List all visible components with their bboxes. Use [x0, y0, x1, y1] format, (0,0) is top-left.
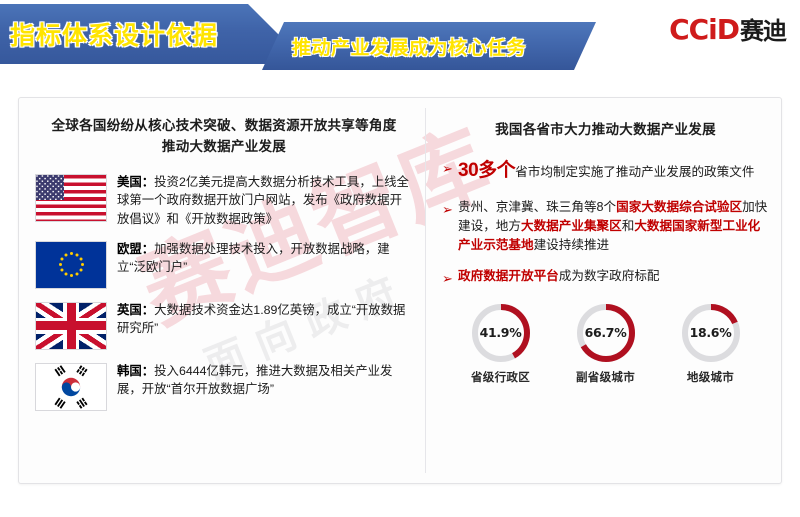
donut-gauge: 41.9%省级行政区 — [453, 301, 549, 385]
donut-gauge: 66.7%副省级城市 — [558, 301, 654, 385]
country-name: 美国： — [117, 175, 154, 189]
country-name: 韩国： — [117, 364, 154, 378]
list-item: 欧盟：加强数据处理技术投入，开放数据战略，建立“泛欧门户” — [35, 239, 413, 289]
arrow-bullet-icon: ➢ — [442, 198, 458, 220]
country-detail: 投资2亿美元提高大数据分析技术工具，上线全球第一个政府数据开放门户网站，发布《政… — [117, 175, 409, 226]
list-item: 美国：投资2亿美元提高大数据分析技术工具，上线全球第一个政府数据开放门户网站，发… — [35, 172, 413, 228]
left-pane-title: 全球各国纷纷从核心技术突破、数据资源开放共享等角度推动大数据产业发展 — [35, 110, 413, 158]
right-pane-title: 我国各省市大力推动大数据产业发展 — [442, 110, 769, 141]
uk-flag-icon — [35, 302, 107, 350]
donut-ring: 18.6% — [679, 301, 743, 365]
list-item: ➢ 贵州、京津冀、珠三角等8个国家大数据综合试验区加快建设，地方大数据产业集聚区… — [442, 198, 769, 255]
right-pane: 我国各省市大力推动大数据产业发展 ➢ 30多个省市均制定实施了推动产业发展的政策… — [426, 98, 781, 483]
donut-category-label: 省级行政区 — [453, 369, 549, 385]
us-flag-icon — [35, 174, 107, 222]
list-item: ➢ 30多个省市均制定实施了推动产业发展的政策文件 — [442, 157, 769, 186]
page-header: 指标体系设计依据 推动产业发展成为核心任务 CCiD 赛迪 — [0, 0, 800, 78]
donut-chart-group: 41.9%省级行政区66.7%副省级城市18.6%地级城市 — [442, 301, 769, 385]
banner-primary-label: 指标体系设计依据 — [0, 16, 218, 52]
ccid-logo: CCiD 赛迪 — [669, 16, 786, 44]
bullet-list: ➢ 30多个省市均制定实施了推动产业发展的政策文件 ➢ 贵州、京津冀、珠三角等8… — [442, 157, 769, 289]
donut-gauge: 18.6%地级城市 — [663, 301, 759, 385]
donut-value-label: 66.7% — [574, 301, 638, 365]
bullet-text: 政府数据开放平台成为数字政府标配 — [458, 267, 660, 286]
country-name: 欧盟： — [117, 242, 154, 256]
country-name: 英国： — [117, 303, 154, 317]
donut-ring: 41.9% — [469, 301, 533, 365]
donut-ring: 66.7% — [574, 301, 638, 365]
banner-secondary-label: 推动产业发展成为核心任务 — [262, 33, 526, 60]
bullet-highlight-1: 国家大数据综合试验区 — [616, 200, 742, 214]
bullet-highlight-platform: 政府数据开放平台 — [458, 269, 559, 283]
left-pane: 全球各国纷纷从核心技术突破、数据资源开放共享等角度推动大数据产业发展 美国：投资… — [19, 98, 425, 483]
list-item: 韩国：投入6444亿韩元，推进大数据及相关产业发展，开放“首尔开放数据广场” — [35, 361, 413, 411]
list-item: ➢ 政府数据开放平台成为数字政府标配 — [442, 267, 769, 289]
donut-category-label: 地级城市 — [663, 369, 759, 385]
arrow-bullet-icon: ➢ — [442, 157, 458, 179]
country-detail: 投入6444亿韩元，推进大数据及相关产业发展，开放“首尔开放数据广场” — [117, 364, 392, 396]
bullet-rest: 省市均制定实施了推动产业发展的政策文件 — [515, 165, 754, 179]
panes-container: 全球各国纷纷从核心技术突破、数据资源开放共享等角度推动大数据产业发展 美国：投资… — [19, 98, 781, 483]
donut-value-label: 41.9% — [469, 301, 533, 365]
country-description: 英国：大数据技术资金达1.89亿英镑，成立“开放数据研究所” — [117, 300, 413, 338]
eu-flag-icon — [35, 241, 107, 289]
arrow-bullet-icon: ➢ — [442, 267, 458, 289]
kr-flag-icon — [35, 363, 107, 411]
country-list: 美国：投资2亿美元提高大数据分析技术工具，上线全球第一个政府数据开放门户网站，发… — [35, 172, 413, 411]
donut-category-label: 副省级城市 — [558, 369, 654, 385]
banner-primary: 指标体系设计依据 — [0, 4, 300, 64]
bullet-highlight-2: 大数据产业集聚区 — [521, 219, 622, 233]
bullet-part4: 建设持续推进 — [534, 238, 610, 252]
content-card: 赛迪智库 面向政府 全球各国纷纷从核心技术突破、数据资源开放共享等角度推动大数据… — [18, 97, 782, 484]
bullet-part3: 和 — [622, 219, 635, 233]
country-description: 美国：投资2亿美元提高大数据分析技术工具，上线全球第一个政府数据开放门户网站，发… — [117, 172, 413, 228]
country-description: 韩国：投入6444亿韩元，推进大数据及相关产业发展，开放“首尔开放数据广场” — [117, 361, 413, 399]
bullet-rest: 成为数字政府标配 — [559, 269, 660, 283]
kr-flag-svg — [36, 364, 106, 410]
bullet-text: 贵州、京津冀、珠三角等8个国家大数据综合试验区加快建设，地方大数据产业集聚区和大… — [458, 198, 769, 255]
bullet-text: 30多个省市均制定实施了推动产业发展的政策文件 — [458, 157, 754, 186]
list-item: 英国：大数据技术资金达1.89亿英镑，成立“开放数据研究所” — [35, 300, 413, 350]
bullet-part1: 贵州、京津冀、珠三角等8个 — [458, 200, 616, 214]
country-detail: 加强数据处理技术投入，开放数据战略，建立“泛欧门户” — [117, 242, 390, 274]
country-description: 欧盟：加强数据处理技术投入，开放数据战略，建立“泛欧门户” — [117, 239, 413, 277]
country-detail: 大数据技术资金达1.89亿英镑，成立“开放数据研究所” — [117, 303, 405, 335]
bullet-highlight-count: 30多个 — [458, 160, 515, 181]
donut-value-label: 18.6% — [679, 301, 743, 365]
banner-secondary: 推动产业发展成为核心任务 — [262, 22, 596, 70]
logo-latin-text: CCiD — [669, 16, 739, 44]
logo-chinese-text: 赛迪 — [740, 20, 786, 44]
